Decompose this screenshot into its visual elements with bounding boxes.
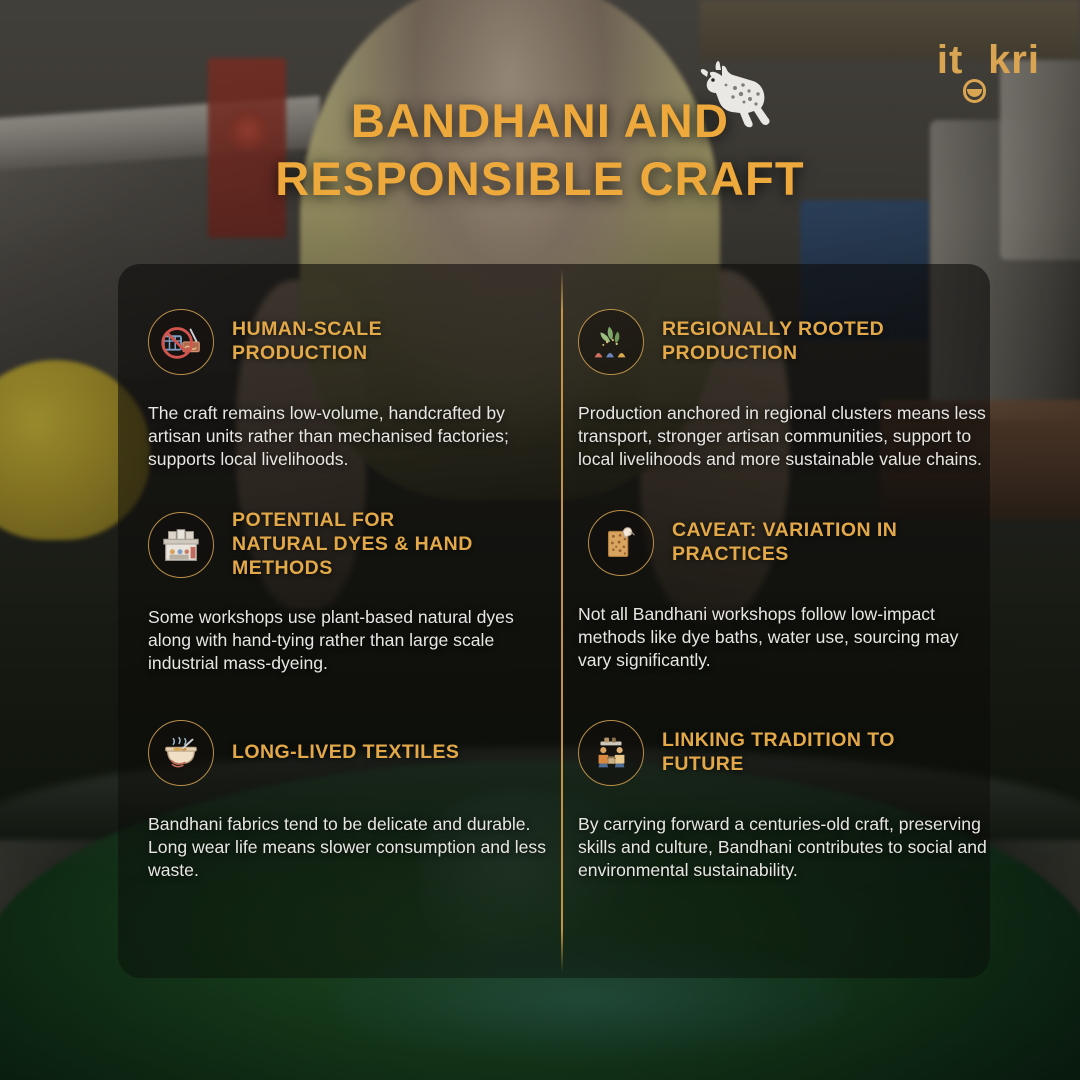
card-natural-dyes-hand-methods: POTENTIAL FOR NATURAL DYES & HAND METHOD… — [148, 509, 578, 675]
card-regionally-rooted-production: REGIONALLY ROOTED PRODUCTION Production … — [578, 308, 1008, 471]
steaming-dye-pot-icon — [148, 720, 214, 786]
two-artisans-working-icon — [578, 720, 644, 786]
logo-letters-it: it — [937, 38, 963, 82]
card-header: POTENTIAL FOR NATURAL DYES & HAND METHOD… — [148, 509, 578, 580]
card-header: LONG-LIVED TEXTILES — [148, 719, 578, 787]
card-body: Some workshops use plant-based natural d… — [148, 606, 548, 675]
card-caveat-variation-in-practices: CAVEAT: VARIATION IN PRACTICES Not all B… — [578, 509, 1008, 672]
card-body: Not all Bandhani workshops follow low-im… — [578, 603, 988, 672]
cards-grid: HUMAN-SCALE PRODUCTION The craft remains… — [118, 264, 990, 978]
no-factory-machine-icon — [148, 309, 214, 375]
card-header: REGIONALLY ROOTED PRODUCTION — [578, 308, 1008, 376]
card-header: LINKING TRADITION TO FUTURE — [578, 719, 1008, 787]
card-title: REGIONALLY ROOTED PRODUCTION — [662, 318, 938, 366]
goat-illustration-icon — [688, 52, 800, 148]
card-long-lived-textiles: LONG-LIVED TEXTILES Bandhani fabrics ten… — [148, 719, 578, 882]
card-header: CAVEAT: VARIATION IN PRACTICES — [578, 509, 1008, 577]
card-title: HUMAN-SCALE PRODUCTION — [232, 318, 494, 366]
card-header: HUMAN-SCALE PRODUCTION — [148, 308, 578, 376]
card-body: Production anchored in regional clusters… — [578, 402, 988, 471]
artisan-workshop-building-icon — [148, 512, 214, 578]
card-title: LINKING TRADITION TO FUTURE — [662, 729, 924, 777]
page-title: BANDHANI AND RESPONSIBLE CRAFT — [0, 92, 1080, 209]
card-title: POTENTIAL FOR NATURAL DYES & HAND METHOD… — [232, 509, 494, 580]
brand-logo[interactable]: itkri — [937, 40, 1040, 80]
card-body: By carrying forward a centuries-old craf… — [578, 813, 988, 882]
card-title: LONG-LIVED TEXTILES — [232, 741, 459, 765]
page-title-line-1: BANDHANI AND — [120, 92, 960, 150]
natural-dye-plants-icon — [578, 309, 644, 375]
card-body: Bandhani fabrics tend to be delicate and… — [148, 813, 548, 882]
hand-holding-fabric-swatch-icon — [588, 510, 654, 576]
card-body: The craft remains low-volume, handcrafte… — [148, 402, 548, 471]
card-human-scale-production: HUMAN-SCALE PRODUCTION The craft remains… — [148, 308, 578, 471]
infographic-canvas: itkri BANDHANI AND RESPONSIBLE CRAFT — [0, 0, 1080, 1080]
card-title: CAVEAT: VARIATION IN PRACTICES — [672, 519, 948, 567]
card-linking-tradition-to-future: LINKING TRADITION TO FUTURE By carrying … — [578, 719, 1008, 882]
page-title-line-2: RESPONSIBLE CRAFT — [120, 150, 960, 208]
logo-letters-kri: kri — [988, 38, 1040, 82]
